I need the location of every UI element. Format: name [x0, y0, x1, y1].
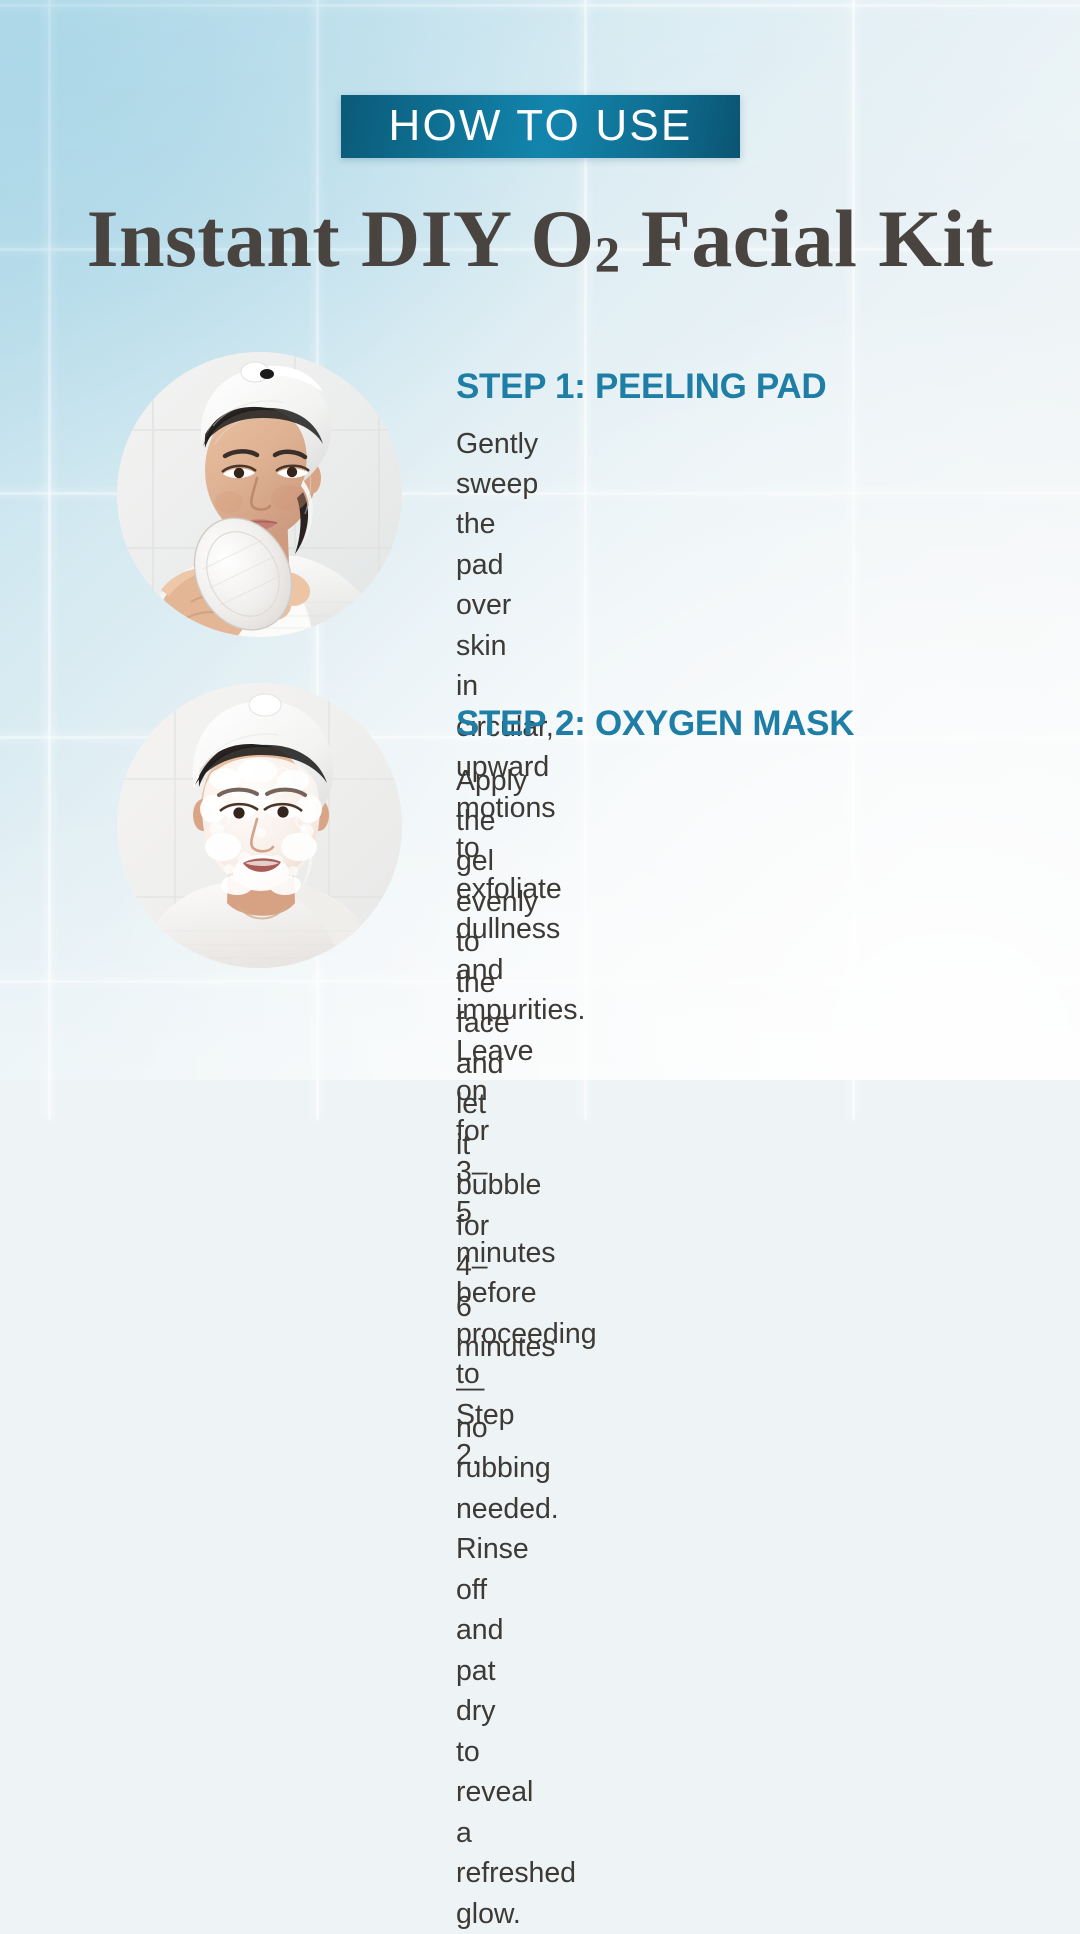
step-2-photo [117, 683, 402, 968]
steps-list: STEP 1: PEELING PAD Gently sweep the pad… [0, 0, 1080, 1080]
woman-peeling-pad-illustration [117, 352, 402, 637]
woman-oxygen-mask-illustration [117, 683, 402, 968]
step-1-photo [117, 352, 402, 637]
